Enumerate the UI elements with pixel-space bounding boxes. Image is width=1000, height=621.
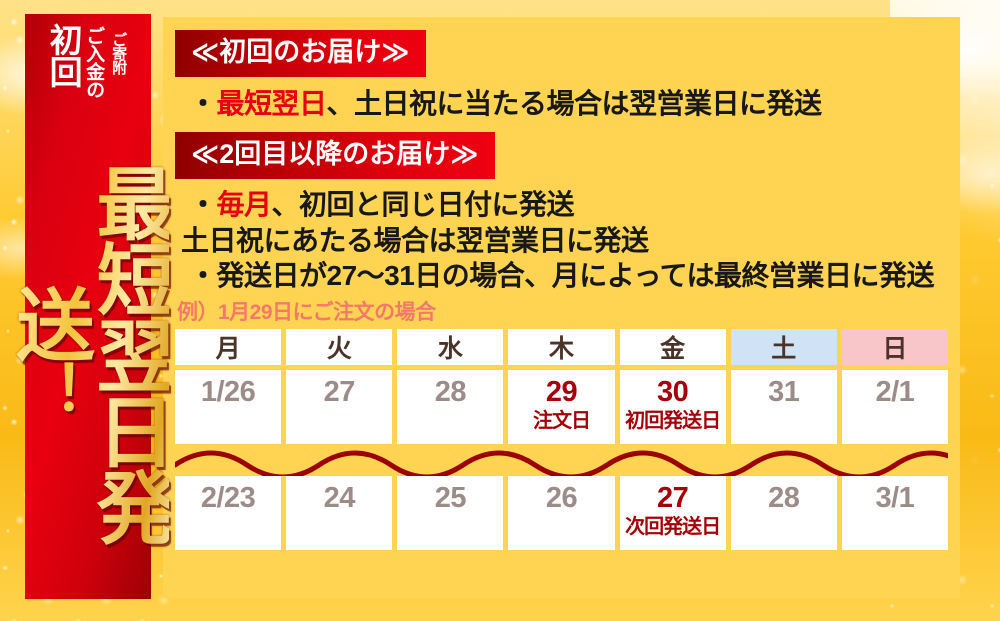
rule-highlight-monthly: 毎月: [217, 189, 272, 220]
calendar-date-number: 30: [657, 377, 688, 407]
calendar-february-cell-7: 3/1: [842, 476, 948, 550]
bullet-icon: ・: [189, 189, 217, 220]
promo-banner: 初回 ご入金の ご寄附 最短翌日発送！ ≪初回のお届け≫ ・最短翌日、土日祝に当…: [0, 0, 1000, 621]
calendar-january-cell-3: 28: [397, 370, 503, 444]
delivery-rule-line-3: 土日祝にあたる場合は翌営業日に発送: [181, 223, 948, 259]
calendar-weekday-7: 日: [842, 329, 948, 365]
calendar-january-cell-2: 27: [286, 370, 392, 444]
calendar-february-cell-6: 28: [731, 476, 837, 550]
calendar-february-cell-1: 2/23: [175, 476, 281, 550]
calendar-date-number: 3/1: [876, 483, 915, 513]
calendar-weekday-1: 月: [175, 329, 281, 365]
rule-rest-2: 、初回と同じ日付に発送: [272, 189, 575, 220]
calendar-february-cell-4: 26: [508, 476, 614, 550]
kicker-first-time: 初回: [47, 23, 79, 87]
rule-rest-3: 土日祝にあたる場合は翌営業日に発送: [181, 225, 649, 256]
rule-highlight-next-day: 最短翌日: [217, 88, 327, 119]
calendar-weekday-5: 金: [620, 329, 726, 365]
calendar-weekday-4: 木: [508, 329, 614, 365]
calendar-date-number: 2/1: [876, 377, 915, 407]
calendar-row-february: 2/2324252627次回発送日283/1: [175, 476, 948, 550]
calendar-date-number: 31: [768, 377, 799, 407]
headline-text: 最短翌日発送: [4, 163, 174, 543]
calendar-february-cell-5: 27次回発送日: [620, 476, 726, 550]
calendar-date-number: 24: [324, 483, 355, 513]
rule-rest-1: 、土日祝に当たる場合は翌営業日に発送: [327, 88, 822, 119]
section-tag-recurring-delivery: ≪2回目以降のお届け≫: [175, 132, 495, 179]
calendar-row-january: 1/26272829注文日30初回発送日312/1: [175, 370, 948, 444]
calendar-date-number: 26: [546, 483, 577, 513]
calendar-date-number: 25: [435, 483, 466, 513]
calendar-date-label: 初回発送日: [625, 410, 720, 432]
calendar-date-number: 29: [546, 377, 577, 407]
calendar-january-cell-7: 2/1: [842, 370, 948, 444]
banner-kicker: 初回 ご入金の ご寄附: [47, 23, 129, 99]
wavy-divider-icon: [175, 446, 948, 476]
delivery-rule-line-2: ・毎月、初回と同じ日付に発送: [189, 187, 948, 223]
section-tag-first-delivery: ≪初回のお届け≫: [175, 30, 426, 77]
calendar-january-cell-5: 30初回発送日: [620, 370, 726, 444]
left-red-banner: 初回 ご入金の ご寄附 最短翌日発送！: [25, 14, 151, 599]
calendar-february-cell-2: 24: [286, 476, 392, 550]
bullet-icon: ・: [189, 88, 217, 119]
calendar-weekday-3: 水: [397, 329, 503, 365]
bullet-icon: ・: [189, 260, 217, 291]
kicker-donation: ご寄附: [108, 32, 129, 74]
kicker-payment: ご入金の: [80, 26, 107, 98]
delivery-rule-line-1: ・最短翌日、土日祝に当たる場合は翌営業日に発送: [189, 86, 948, 122]
content-panel: ≪初回のお届け≫ ・最短翌日、土日祝に当たる場合は翌営業日に発送 ≪2回目以降の…: [163, 17, 960, 598]
calendar-date-number: 28: [435, 377, 466, 407]
calendar-date-number: 2/23: [201, 483, 255, 513]
calendar-date-number: 1/26: [201, 377, 255, 407]
calendar-date-label: 注文日: [533, 410, 590, 432]
calendar-weekday-2: 火: [286, 329, 392, 365]
rule-rest-4: 発送日が27〜31日の場合、月によっては最終営業日に発送: [217, 260, 935, 291]
calendar-january-cell-6: 31: [731, 370, 837, 444]
calendar-date-label: 次回発送日: [625, 516, 720, 538]
calendar-january-cell-4: 29注文日: [508, 370, 614, 444]
banner-headline: 最短翌日発送！: [7, 107, 168, 599]
calendar-date-number: 27: [657, 483, 688, 513]
calendar-date-number: 27: [324, 377, 355, 407]
calendar-weekday-6: 土: [731, 329, 837, 365]
headline-exclamation: ！: [14, 360, 83, 422]
example-note: 例）1月29日にご注文の場合: [177, 300, 948, 325]
calendar-weekday-header: 月火水木金土日: [175, 329, 948, 365]
calendar-february-cell-3: 25: [397, 476, 503, 550]
delivery-rule-line-4: ・発送日が27〜31日の場合、月によっては最終営業日に発送: [189, 258, 948, 294]
delivery-calendar: 月火水木金土日 1/26272829注文日30初回発送日312/1 2/2324…: [175, 329, 948, 550]
calendar-january-cell-1: 1/26: [175, 370, 281, 444]
calendar-date-number: 28: [768, 483, 799, 513]
